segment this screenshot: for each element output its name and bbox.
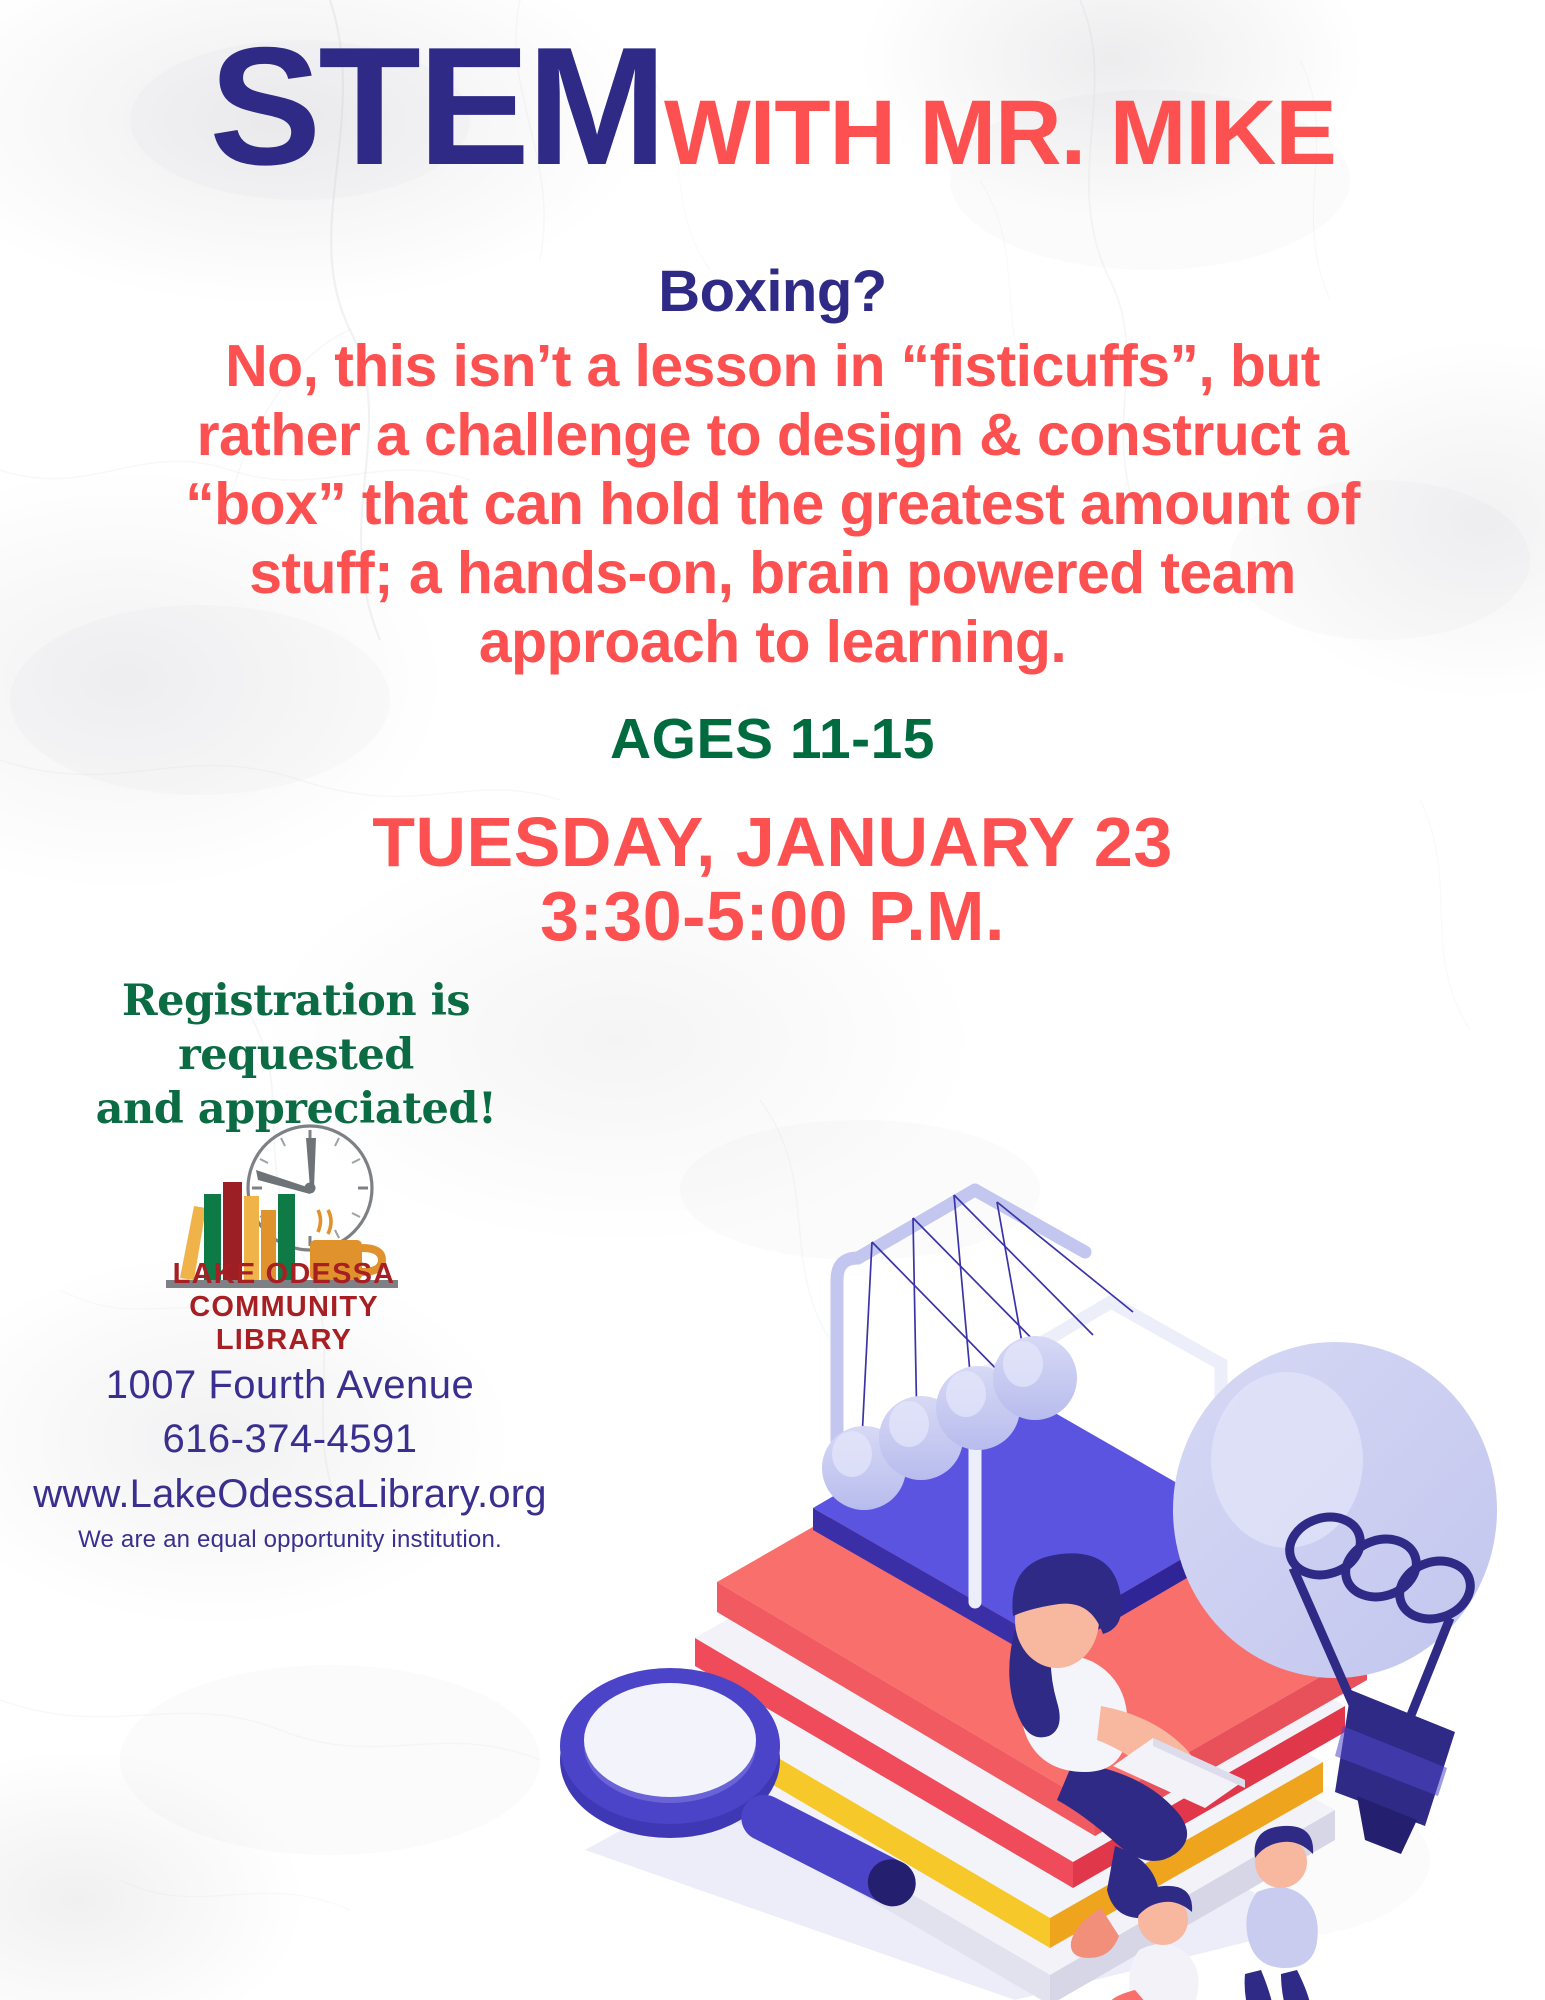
description-line-1: No, this isn’t a lesson in “fisticuffs”,…: [70, 332, 1475, 401]
event-datetime: TUESDAY, JANUARY 23 3:30-5:00 P.M.: [0, 805, 1545, 953]
library-name: LAKE ODESSA COMMUNITY LIBRARY: [150, 1258, 418, 1357]
headline-with-mr-mike: WITH MR. MIKE: [664, 82, 1336, 184]
contact-block: 1007 Fourth Avenue 616-374-4591 www.Lake…: [30, 1358, 550, 1554]
registration-line-1: Registration is requested: [46, 975, 546, 1083]
library-name-line-2: COMMUNITY: [150, 1291, 418, 1324]
address-line: 1007 Fourth Avenue: [30, 1358, 550, 1412]
description-line-2: rather a challenge to design & construct…: [70, 401, 1475, 470]
event-date: TUESDAY, JANUARY 23: [0, 805, 1545, 879]
library-name-line-3: LIBRARY: [150, 1324, 418, 1357]
ages-label: AGES 11-15: [0, 706, 1545, 772]
description-block: No, this isn’t a lesson in “fisticuffs”,…: [70, 332, 1475, 677]
headline-stem: STEM: [209, 12, 664, 200]
question-line: Boxing?: [0, 258, 1545, 325]
website-link[interactable]: www.LakeOdessaLibrary.org: [30, 1466, 550, 1522]
library-name-line-1: LAKE ODESSA: [150, 1258, 418, 1291]
description-line-5: approach to learning.: [70, 608, 1475, 677]
description-line-4: stuff; a hands-on, brain powered team: [70, 539, 1475, 608]
poster-canvas: STEMWITH MR. MIKE Boxing? No, this isn’t…: [0, 0, 1545, 2000]
page-title: STEMWITH MR. MIKE: [0, 22, 1545, 190]
description-line-3: “box” that can hold the greatest amount …: [70, 470, 1475, 539]
event-time: 3:30-5:00 P.M.: [0, 879, 1545, 953]
equal-opportunity-note: We are an equal opportunity institution.: [30, 1526, 550, 1554]
stem-isometric-illustration: [545, 990, 1545, 2000]
phone-line[interactable]: 616-374-4591: [30, 1412, 550, 1466]
